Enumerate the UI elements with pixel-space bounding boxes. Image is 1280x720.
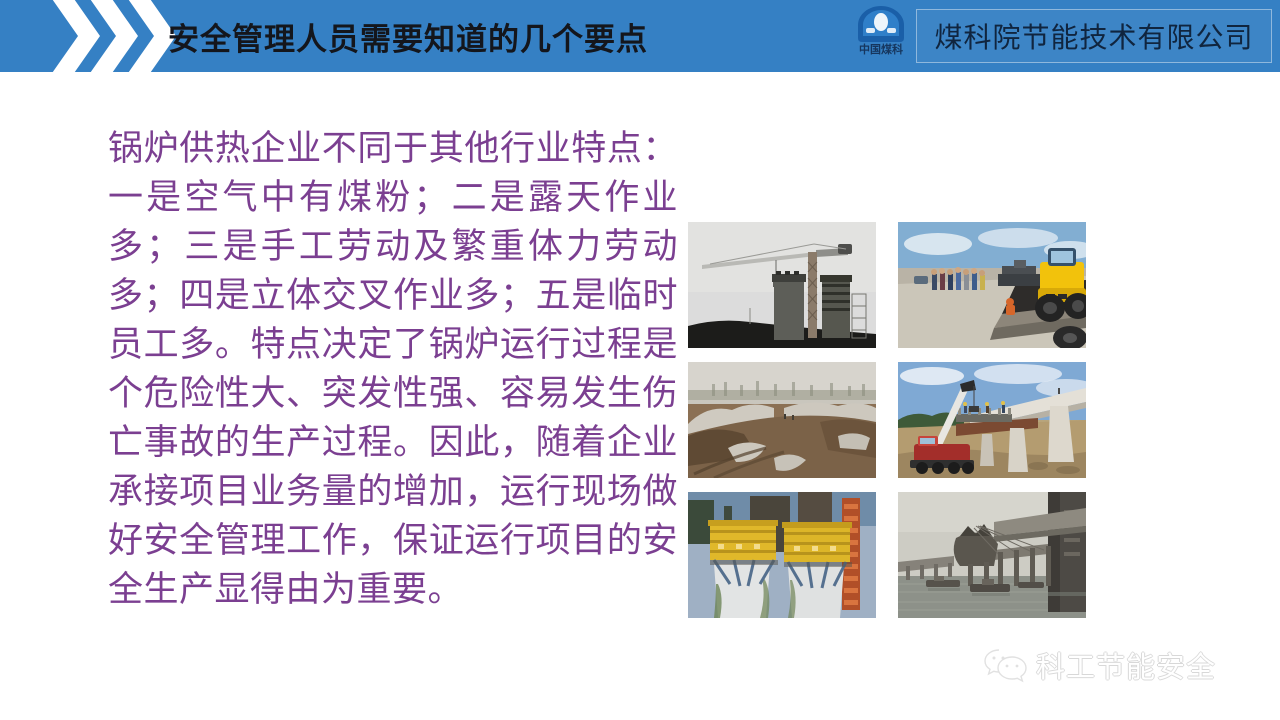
brand-logo-caption: 中国煤科 bbox=[848, 44, 914, 56]
china-coal-science-logo-icon bbox=[855, 5, 907, 43]
photo-bridge-girder-erection-with-crane bbox=[898, 362, 1086, 478]
company-name-box: 煤科院节能技术有限公司 bbox=[916, 9, 1272, 63]
body-paragraph: 锅炉供热企业不同于其他行业特点：一是空气中有煤粉；二是露天作业多；三是手工劳动及… bbox=[108, 124, 678, 614]
slide-root: 安全管理人员需要知道的几个要点 中国煤科 煤科院节能技术有限公司 锅炉供热企业不… bbox=[0, 0, 1280, 720]
photo-earthworks-excavation-site bbox=[688, 362, 876, 478]
brand-logo: 中国煤科 bbox=[848, 5, 914, 67]
photo-bridge-pier-formwork-yellow bbox=[688, 492, 876, 618]
photo-bridge-construction-over-water bbox=[898, 492, 1086, 618]
photo-grid bbox=[688, 222, 1086, 626]
photo-road-paving-with-yellow-roller bbox=[898, 222, 1086, 348]
watermark-label: 科工节能安全 bbox=[1036, 644, 1216, 686]
wechat-icon bbox=[983, 647, 1027, 683]
header-bar: 安全管理人员需要知道的几个要点 中国煤科 煤科院节能技术有限公司 bbox=[0, 0, 1280, 72]
company-name: 煤科院节能技术有限公司 bbox=[934, 16, 1253, 56]
photo-tower-crane-construction-site bbox=[688, 222, 876, 348]
watermark: 科工节能安全 bbox=[983, 644, 1216, 686]
page-title: 安全管理人员需要知道的几个要点 bbox=[168, 0, 648, 72]
